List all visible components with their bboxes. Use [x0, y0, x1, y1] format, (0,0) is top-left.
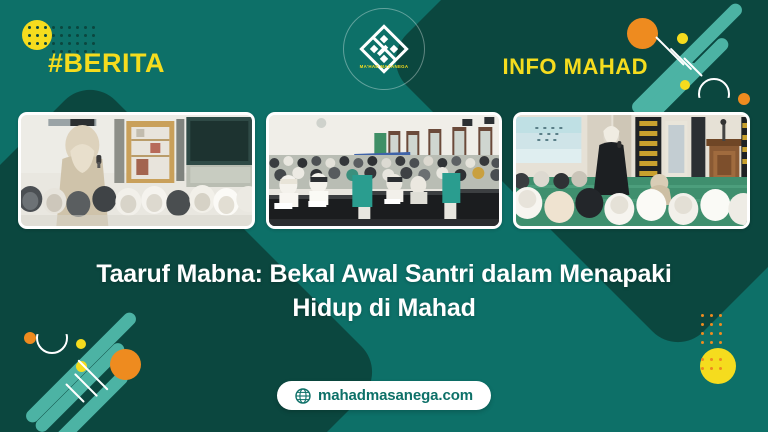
top-right-orange-circle [627, 18, 658, 49]
gallery-photo-1-image [21, 115, 252, 226]
bottom-right-yellow-circle [700, 348, 736, 384]
photo-gallery [18, 112, 750, 229]
gallery-photo-2-image [269, 115, 500, 226]
gallery-photo-3-image [516, 115, 747, 226]
top-left-inner-dot-grid [28, 26, 50, 48]
top-left-yellow-circle [22, 20, 52, 50]
gallery-photo-2[interactable] [266, 112, 503, 229]
bottom-left-stripe-3 [53, 369, 130, 432]
category-tag-berita: #BERITA [48, 50, 165, 77]
page-title: Taaruf Mabna: Bekal Awal Santri dalam Me… [54, 258, 714, 326]
top-right-hairline-1 [655, 36, 685, 66]
bottom-left-stripe-2 [33, 340, 127, 432]
top-right-yellow-dot-2 [680, 80, 690, 90]
website-badge[interactable]: mahadmasanega.com [277, 381, 491, 410]
top-right-yellow-dot-1 [677, 33, 688, 44]
top-right-hairline-3 [683, 57, 703, 77]
gallery-photo-3[interactable] [513, 112, 750, 229]
website-url-label: mahadmasanega.com [318, 387, 473, 404]
top-right-arc [698, 78, 730, 110]
gallery-photo-1[interactable] [18, 112, 255, 229]
top-right-orange-dot [738, 93, 750, 105]
top-right-hairline-2 [670, 48, 693, 71]
news-banner-poster: #BERITA INFO MAHAD MA'HAD MASANEGA [0, 0, 768, 432]
bottom-left-orange-circle [110, 349, 141, 380]
bottom-left-orange-dot [24, 332, 36, 344]
headline-line-2: Hidup di Mahad [292, 294, 475, 322]
bottom-right-inner-dot-grid [701, 358, 728, 376]
bottom-left-arc [36, 322, 68, 354]
bottom-left-stripe-1 [23, 310, 138, 425]
bottom-left-yellow-dot-2 [76, 339, 86, 349]
bottom-left-hairline-3 [65, 383, 85, 403]
logo-kufic-diamond-icon: MA'HAD MASANEGA [347, 12, 421, 86]
bottom-left-hairline-1 [77, 359, 108, 390]
globe-icon [295, 388, 311, 404]
headline-line-1: Taaruf Mabna: Bekal Awal Santri dalam Me… [96, 260, 671, 288]
section-tag-info-mahad: INFO MAHAD [502, 56, 648, 78]
mahad-masanega-logo: MA'HAD MASANEGA [343, 8, 425, 90]
svg-text:MA'HAD MASANEGA: MA'HAD MASANEGA [360, 64, 409, 69]
bottom-left-yellow-dot-1 [76, 361, 87, 372]
bottom-left-hairline-2 [74, 373, 98, 397]
